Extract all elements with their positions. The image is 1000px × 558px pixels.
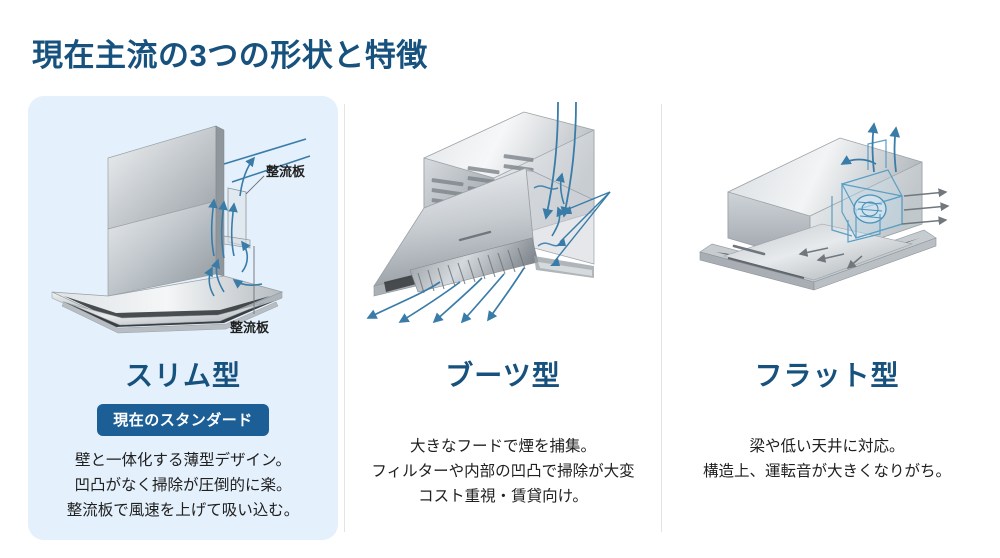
card-description-slim: 壁と一体化する薄型デザイン。 凹凸がなく掃除が圧倒的に楽。 整流板で風速を上げて… <box>36 448 330 523</box>
card-row: 整流板 整流板 スリム型 現在のスタンダード 壁と一体化する薄型デザイン。 凹凸… <box>0 96 1000 540</box>
desc-line: 構造上、運転音が大きくなりがち。 <box>680 459 974 484</box>
card-title-flat: フラット型 <box>672 354 982 394</box>
badge-wrap-slim: 現在のスタンダード <box>28 404 338 436</box>
desc-line: 整流板で風速を上げて吸い込む。 <box>36 498 330 523</box>
desc-line: 壁と一体化する薄型デザイン。 <box>36 448 330 473</box>
card-title-boots: ブーツ型 <box>348 354 658 394</box>
card-slim[interactable]: 整流板 整流板 スリム型 現在のスタンダード 壁と一体化する薄型デザイン。 凹凸… <box>28 96 338 540</box>
status-badge-standard: 現在のスタンダード <box>97 404 269 436</box>
flat-range-hood-illustration <box>672 96 982 344</box>
callout-seiryuban-top: 整流板 <box>265 164 306 179</box>
desc-line: 凹凸がなく掃除が圧倒的に楽。 <box>36 473 330 498</box>
slide-root: 現在主流の3つの形状と特徴 <box>0 0 1000 558</box>
card-description-boots: 大きなフードで煙を捕集。 フィルターや内部の凹凸で掃除が大変 コスト重視・賃貸向… <box>356 434 650 509</box>
card-divider-2 <box>661 104 662 532</box>
desc-line: フィルターや内部の凹凸で掃除が大変 <box>356 459 650 484</box>
card-title-slim: スリム型 <box>28 354 338 394</box>
card-divider-1 <box>344 104 345 532</box>
card-flat[interactable]: フラット型 梁や低い天井に対応。 構造上、運転音が大きくなりがち。 <box>672 96 982 540</box>
desc-line: 大きなフードで煙を捕集。 <box>356 434 650 459</box>
slim-range-hood-illustration: 整流板 整流板 <box>28 96 338 344</box>
page-title: 現在主流の3つの形状と特徴 <box>32 30 428 75</box>
desc-line: コスト重視・賃貸向け。 <box>356 484 650 509</box>
callout-seiryuban-bottom: 整流板 <box>229 320 270 335</box>
card-description-flat: 梁や低い天井に対応。 構造上、運転音が大きくなりがち。 <box>680 434 974 484</box>
boots-range-hood-illustration <box>348 96 658 344</box>
card-boots[interactable]: ブーツ型 大きなフードで煙を捕集。 フィルターや内部の凹凸で掃除が大変 コスト重… <box>348 96 658 540</box>
desc-line: 梁や低い天井に対応。 <box>680 434 974 459</box>
